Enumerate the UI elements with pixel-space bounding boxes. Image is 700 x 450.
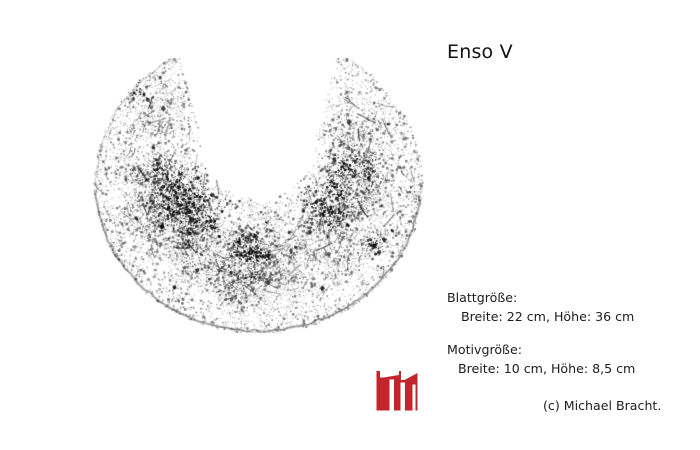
enso-ink-print-canvas [92,58,424,333]
copyright-notice: (c) Michael Bracht. [543,398,661,414]
artwork-image: Enso V — open horseshoe / U-shaped monoc… [92,58,424,333]
spec-motif-size-value: Breite: 10 cm, Höhe: 8,5 cm [447,359,635,378]
spec-sheet-size-label: Blattgröße: [447,288,634,307]
spec-motif-size: Motivgröße: Breite: 10 cm, Höhe: 8,5 cm [447,340,635,378]
spec-motif-size-label: Motivgröße: [447,340,635,359]
publisher-logo-svg [375,369,419,413]
spec-sheet-size: Blattgröße: Breite: 22 cm, Höhe: 36 cm [447,288,634,326]
page-title: Enso V [447,40,513,64]
spec-sheet-size-value: Breite: 22 cm, Höhe: 36 cm [447,307,634,326]
publisher-logo-icon [375,369,419,413]
